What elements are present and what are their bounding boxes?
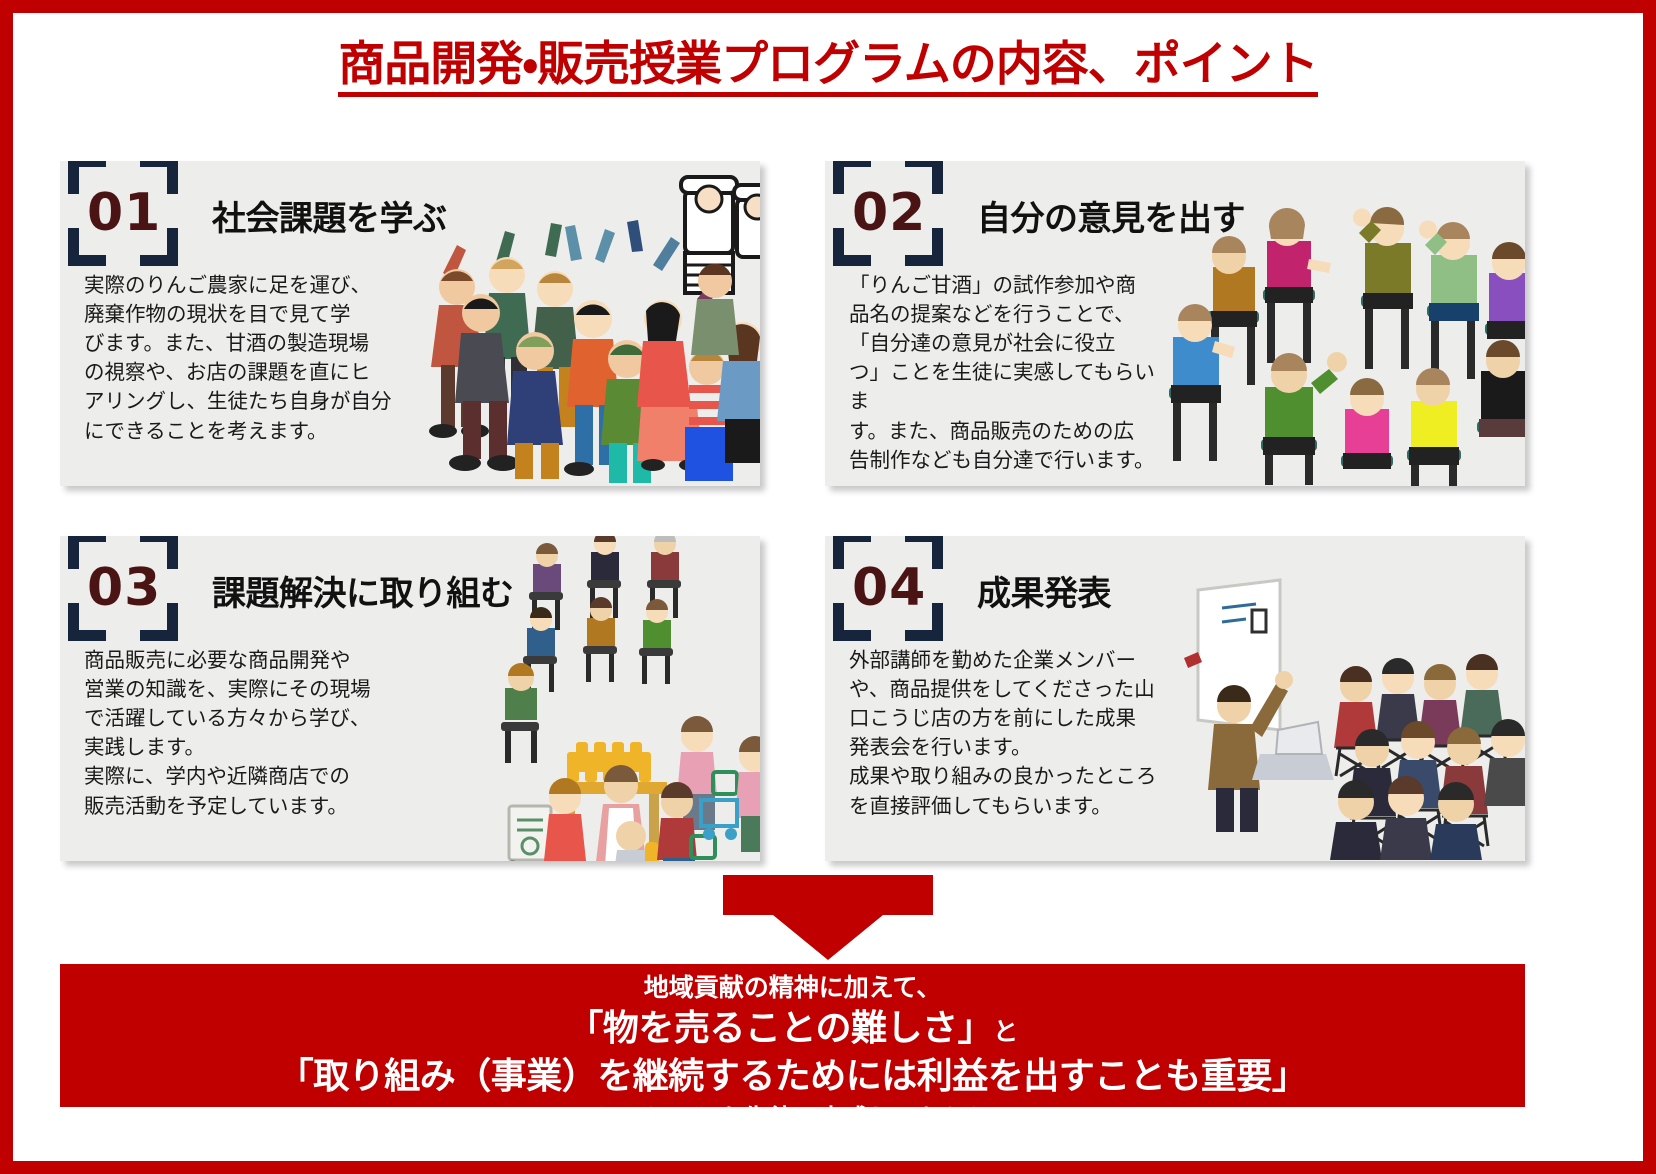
point-number-01: 01 (87, 183, 161, 243)
page-title-wrap: 商品開発・販売授業プログラムの内容、ポイント (13, 40, 1643, 97)
point-label-04: POINT (833, 536, 931, 543)
slide-canvas: 商品開発・販売授業プログラムの内容、ポイント (0, 0, 1656, 1174)
point-number-03: 03 (87, 558, 161, 618)
point-card-02[interactable]: POINT 02 自分の意見を出す 「りんご甘酒」の試作参加や商 品名の提案など… (825, 161, 1525, 486)
card-heading-03: 課題解決に取り組む (212, 566, 514, 615)
point-label-01: POINT (68, 161, 166, 168)
banner-line-2-part1: 「物を売ることの難しさ」 (567, 1008, 993, 1049)
point-number-04: 04 (852, 558, 926, 618)
banner-line-2: 「物を売ることの難しさ」と「取り組み（事業）を継続するためには利益を出すことも重… (60, 1005, 1525, 1102)
card-body-02: 「りんご甘酒」の試作参加や商 品名の提案などを行うことで、 「自分達の意見が社会… (849, 271, 1159, 475)
page-title: 商品開発・販売授業プログラムの内容、ポイント (338, 40, 1318, 97)
banner-line-3: ということを生徒に実感してもらう (60, 1102, 1525, 1136)
card-heading-02: 自分の意見を出す (977, 191, 1245, 240)
banner-line-2-part2: 「取り組み（事業）を継続するためには利益を出すことも重要」 (278, 1056, 1308, 1097)
summary-banner: 地域貢献の精神に加えて、 「物を売ることの難しさ」と「取り組み（事業）を継続する… (60, 964, 1525, 1107)
point-number-02: 02 (852, 183, 926, 243)
point-label-02: POINT (833, 161, 931, 168)
point-label-03: POINT (68, 536, 166, 543)
banner-line-1: 地域貢献の精神に加えて、 (60, 971, 1525, 1005)
card-body-01: 実際のりんご農家に足を運び、 廃棄作物の現状を目で見て学 びます。また、甘酒の製… (84, 271, 394, 446)
card-body-04: 外部講師を勤めた企業メンバー や、商品提供をしてくださった山 口こうじ店の方を前… (849, 646, 1159, 821)
down-arrow (723, 875, 933, 960)
card-heading-01: 社会課題を学ぶ (212, 191, 447, 240)
point-card-04[interactable]: POINT 04 成果発表 外部講師を勤めた企業メンバー や、商品提供をしてくだ… (825, 536, 1525, 861)
point-card-01[interactable]: POINT 01 社会課題を学ぶ 実際のりんご農家に足を運び、 廃棄作物の現状を… (60, 161, 760, 486)
banner-line-2-conj: と (993, 1017, 1018, 1046)
card-heading-04: 成果発表 (977, 566, 1111, 615)
presentation-audience-illustration (1160, 574, 1525, 861)
point-card-03[interactable]: POINT 03 課題解決に取り組む 商品販売に必要な商品開発や 営業の知識を、… (60, 536, 760, 861)
card-body-03: 商品販売に必要な商品開発や 営業の知識を、実際にその現場 で活躍している方々から… (84, 646, 394, 821)
